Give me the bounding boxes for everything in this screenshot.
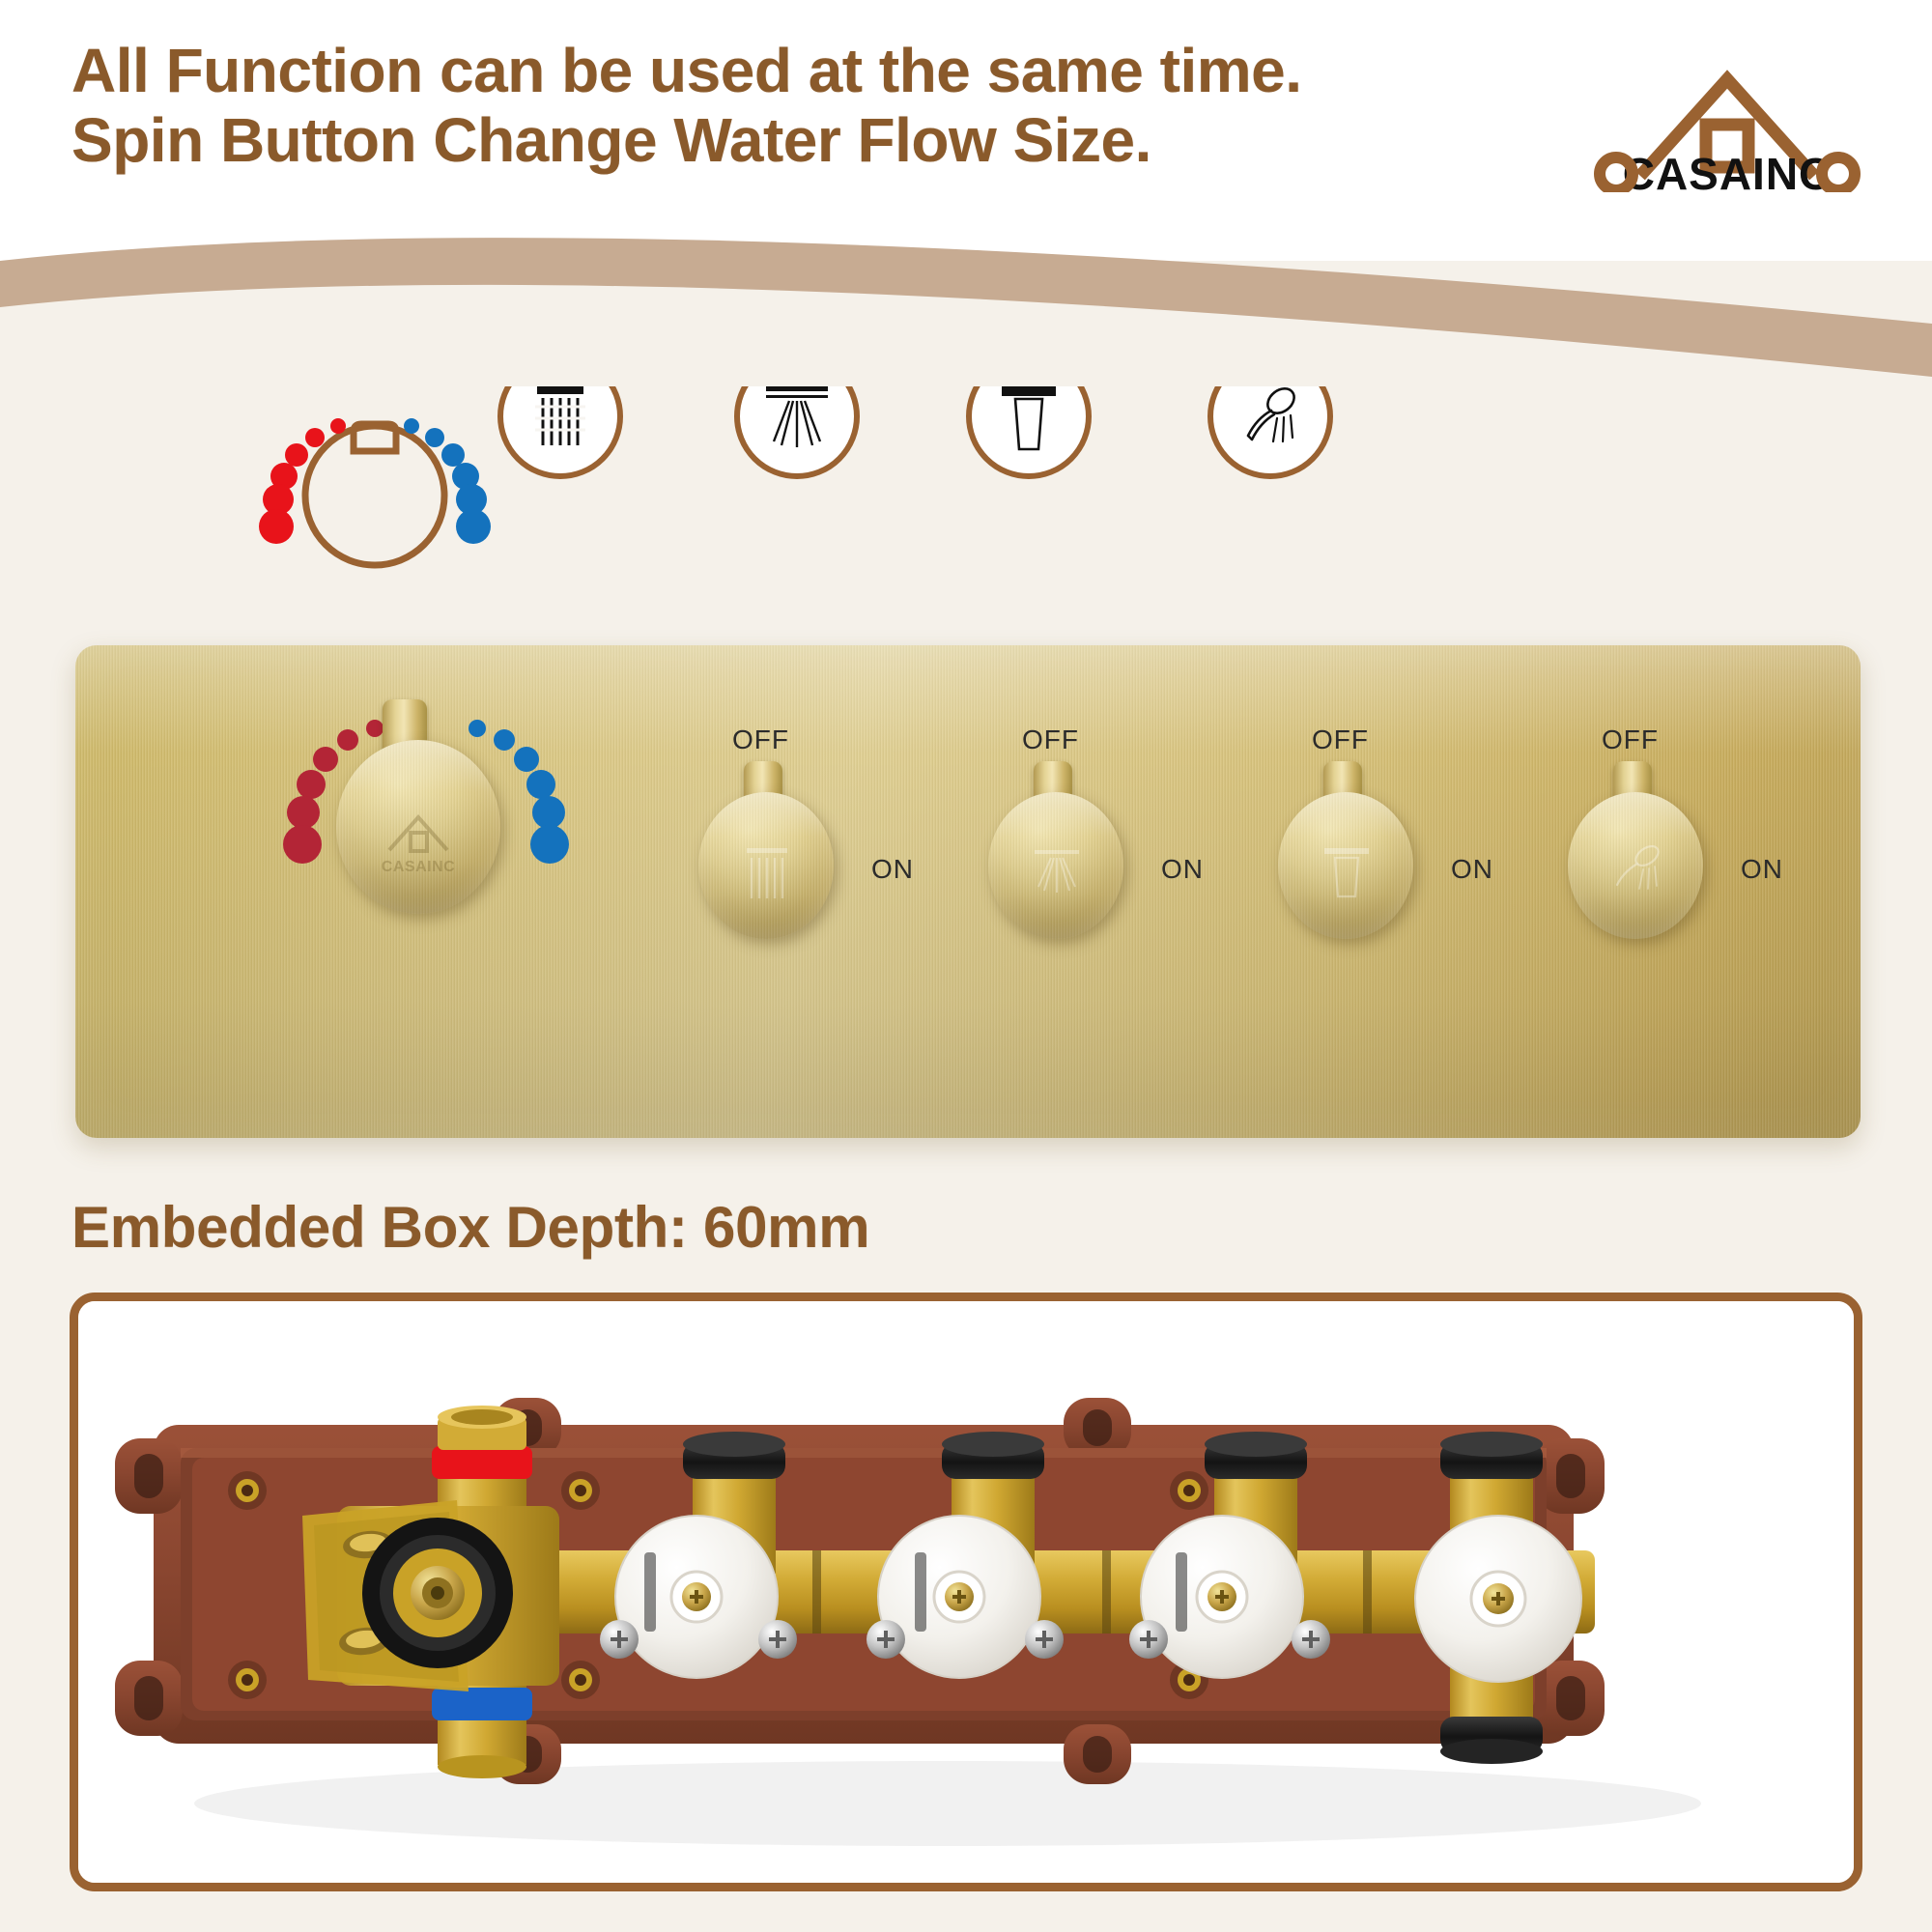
- thermostatic-cartridge: [302, 1500, 559, 1691]
- feature-icon-row: 38 °C Thermostatic: [0, 275, 1932, 613]
- rough-in-valve-photo-frame: [70, 1293, 1862, 1891]
- knob-shower-hand[interactable]: [1568, 792, 1703, 939]
- svg-text:CASAINC: CASAINC: [1623, 149, 1833, 192]
- knob-spray-on-label: ON: [1161, 854, 1204, 885]
- embedded-box-depth-heading: Embedded Box Depth: 60mm: [71, 1194, 869, 1261]
- feature-rain: Rain: [435, 293, 686, 479]
- svg-text:CASAINC: CASAINC: [382, 859, 455, 875]
- feature-shower-hand-label: Shower Hand: [1145, 293, 1396, 336]
- headline-line-2: Spin Button Change Water Flow Size.: [71, 106, 1302, 176]
- knob-waterfall[interactable]: [1278, 792, 1413, 939]
- rough-in-valve-body-photo: [78, 1301, 1854, 1883]
- handheld-shower-icon: [1568, 792, 1703, 939]
- knob-spray[interactable]: [988, 792, 1123, 939]
- waterfall-icon: [966, 354, 1092, 479]
- handheld-shower-icon: [1207, 354, 1333, 479]
- feature-waterfall-label: Waterfall: [903, 293, 1154, 336]
- rain-shower-icon: [497, 354, 623, 479]
- header-banner: All Function can be used at the same tim…: [0, 0, 1932, 261]
- page-title: All Function can be used at the same tim…: [71, 37, 1302, 175]
- thermostatic-knob[interactable]: CASAINC: [336, 740, 500, 914]
- feature-rain-label: Rain: [435, 293, 686, 336]
- feature-spray: Spray: [671, 293, 923, 479]
- knob-rain[interactable]: [698, 792, 834, 939]
- spray-jet-icon: [988, 792, 1123, 939]
- knob-shower-hand-off-label: OFF: [1602, 724, 1659, 755]
- knob-waterfall-off-label: OFF: [1312, 724, 1369, 755]
- spray-jet-icon: [734, 354, 860, 479]
- brushed-gold-valve-panel[interactable]: CASAINC OFF ON OFF: [75, 645, 1861, 1138]
- engraved-casainc-logo: CASAINC: [336, 740, 500, 914]
- casainc-logo: CASAINC: [1582, 33, 1872, 192]
- knob-rain-on-label: ON: [871, 854, 914, 885]
- knob-waterfall-on-label: ON: [1451, 854, 1493, 885]
- feature-waterfall: Waterfall: [903, 293, 1154, 479]
- feature-shower-hand: Shower Hand: [1145, 293, 1396, 479]
- rain-shower-icon: [698, 792, 834, 939]
- feature-spray-label: Spray: [671, 293, 923, 336]
- knob-spray-off-label: OFF: [1022, 724, 1079, 755]
- knob-shower-hand-on-label: ON: [1741, 854, 1783, 885]
- knob-rain-off-label: OFF: [732, 724, 789, 755]
- headline-line-1: All Function can be used at the same tim…: [71, 37, 1302, 106]
- waterfall-icon: [1278, 792, 1413, 939]
